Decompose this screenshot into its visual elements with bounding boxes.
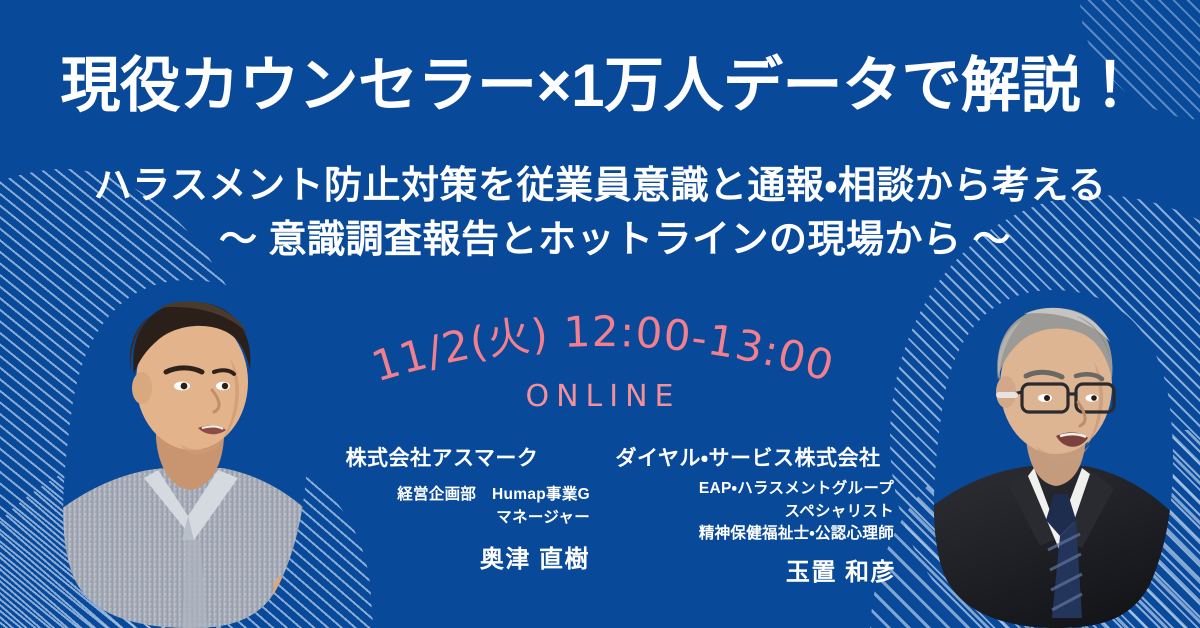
subheadline-line-2: 〜 意識調査報告とホットラインの現場から 〜 [0,214,1200,268]
left-speaker-photo [62,278,314,628]
speaker-role-right: EAP・ハラスメントグループ スペシャリスト 精神保健福祉士・公認心理師 [596,478,898,545]
speaker-role-left: 経営企画部 Humap事業G マネージャー [300,484,592,529]
speaker-role-line: EAP・ハラスメントグループ [596,478,894,500]
speaker-name-right: 玉置 和彦 [596,552,898,587]
right-speaker-photo [930,288,1180,628]
speaker-credit-right: ダイヤル・サービス株式会社 EAP・ハラスメントグループ スペシャリスト 精神保… [596,446,898,587]
subheadline-line-1: ハラスメント防止対策を従業員意識と通報・相談から考える [94,165,1107,207]
speaker-credit-left: 株式会社アスマーク 経営企画部 Humap事業G マネージャー 奥津 直樹 [300,446,592,574]
speaker-company-left: 株式会社アスマーク [300,446,592,472]
speaker-company-right: ダイヤル・サービス株式会社 [596,446,898,472]
speaker-role-line: マネージャー [300,507,590,529]
speaker-role-line: 精神保健福祉士・公認心理師 [596,523,894,545]
webinar-banner: 現役カウンセラー×1万人データで解説！ ハラスメント防止対策を従業員意識と通報・… [0,0,1200,628]
speaker-role-line: 経営企画部 Humap事業G [300,484,590,506]
speaker-name-left: 奥津 直樹 [300,539,592,574]
banner-subheadline: ハラスメント防止対策を従業員意識と通報・相談から考える 〜 意識調査報告とホット… [0,160,1200,268]
banner-headline: 現役カウンセラー×1万人データで解説！ [0,52,1200,119]
event-format-label: ONLINE [318,379,888,414]
speaker-role-line: スペシャリスト [596,501,894,523]
